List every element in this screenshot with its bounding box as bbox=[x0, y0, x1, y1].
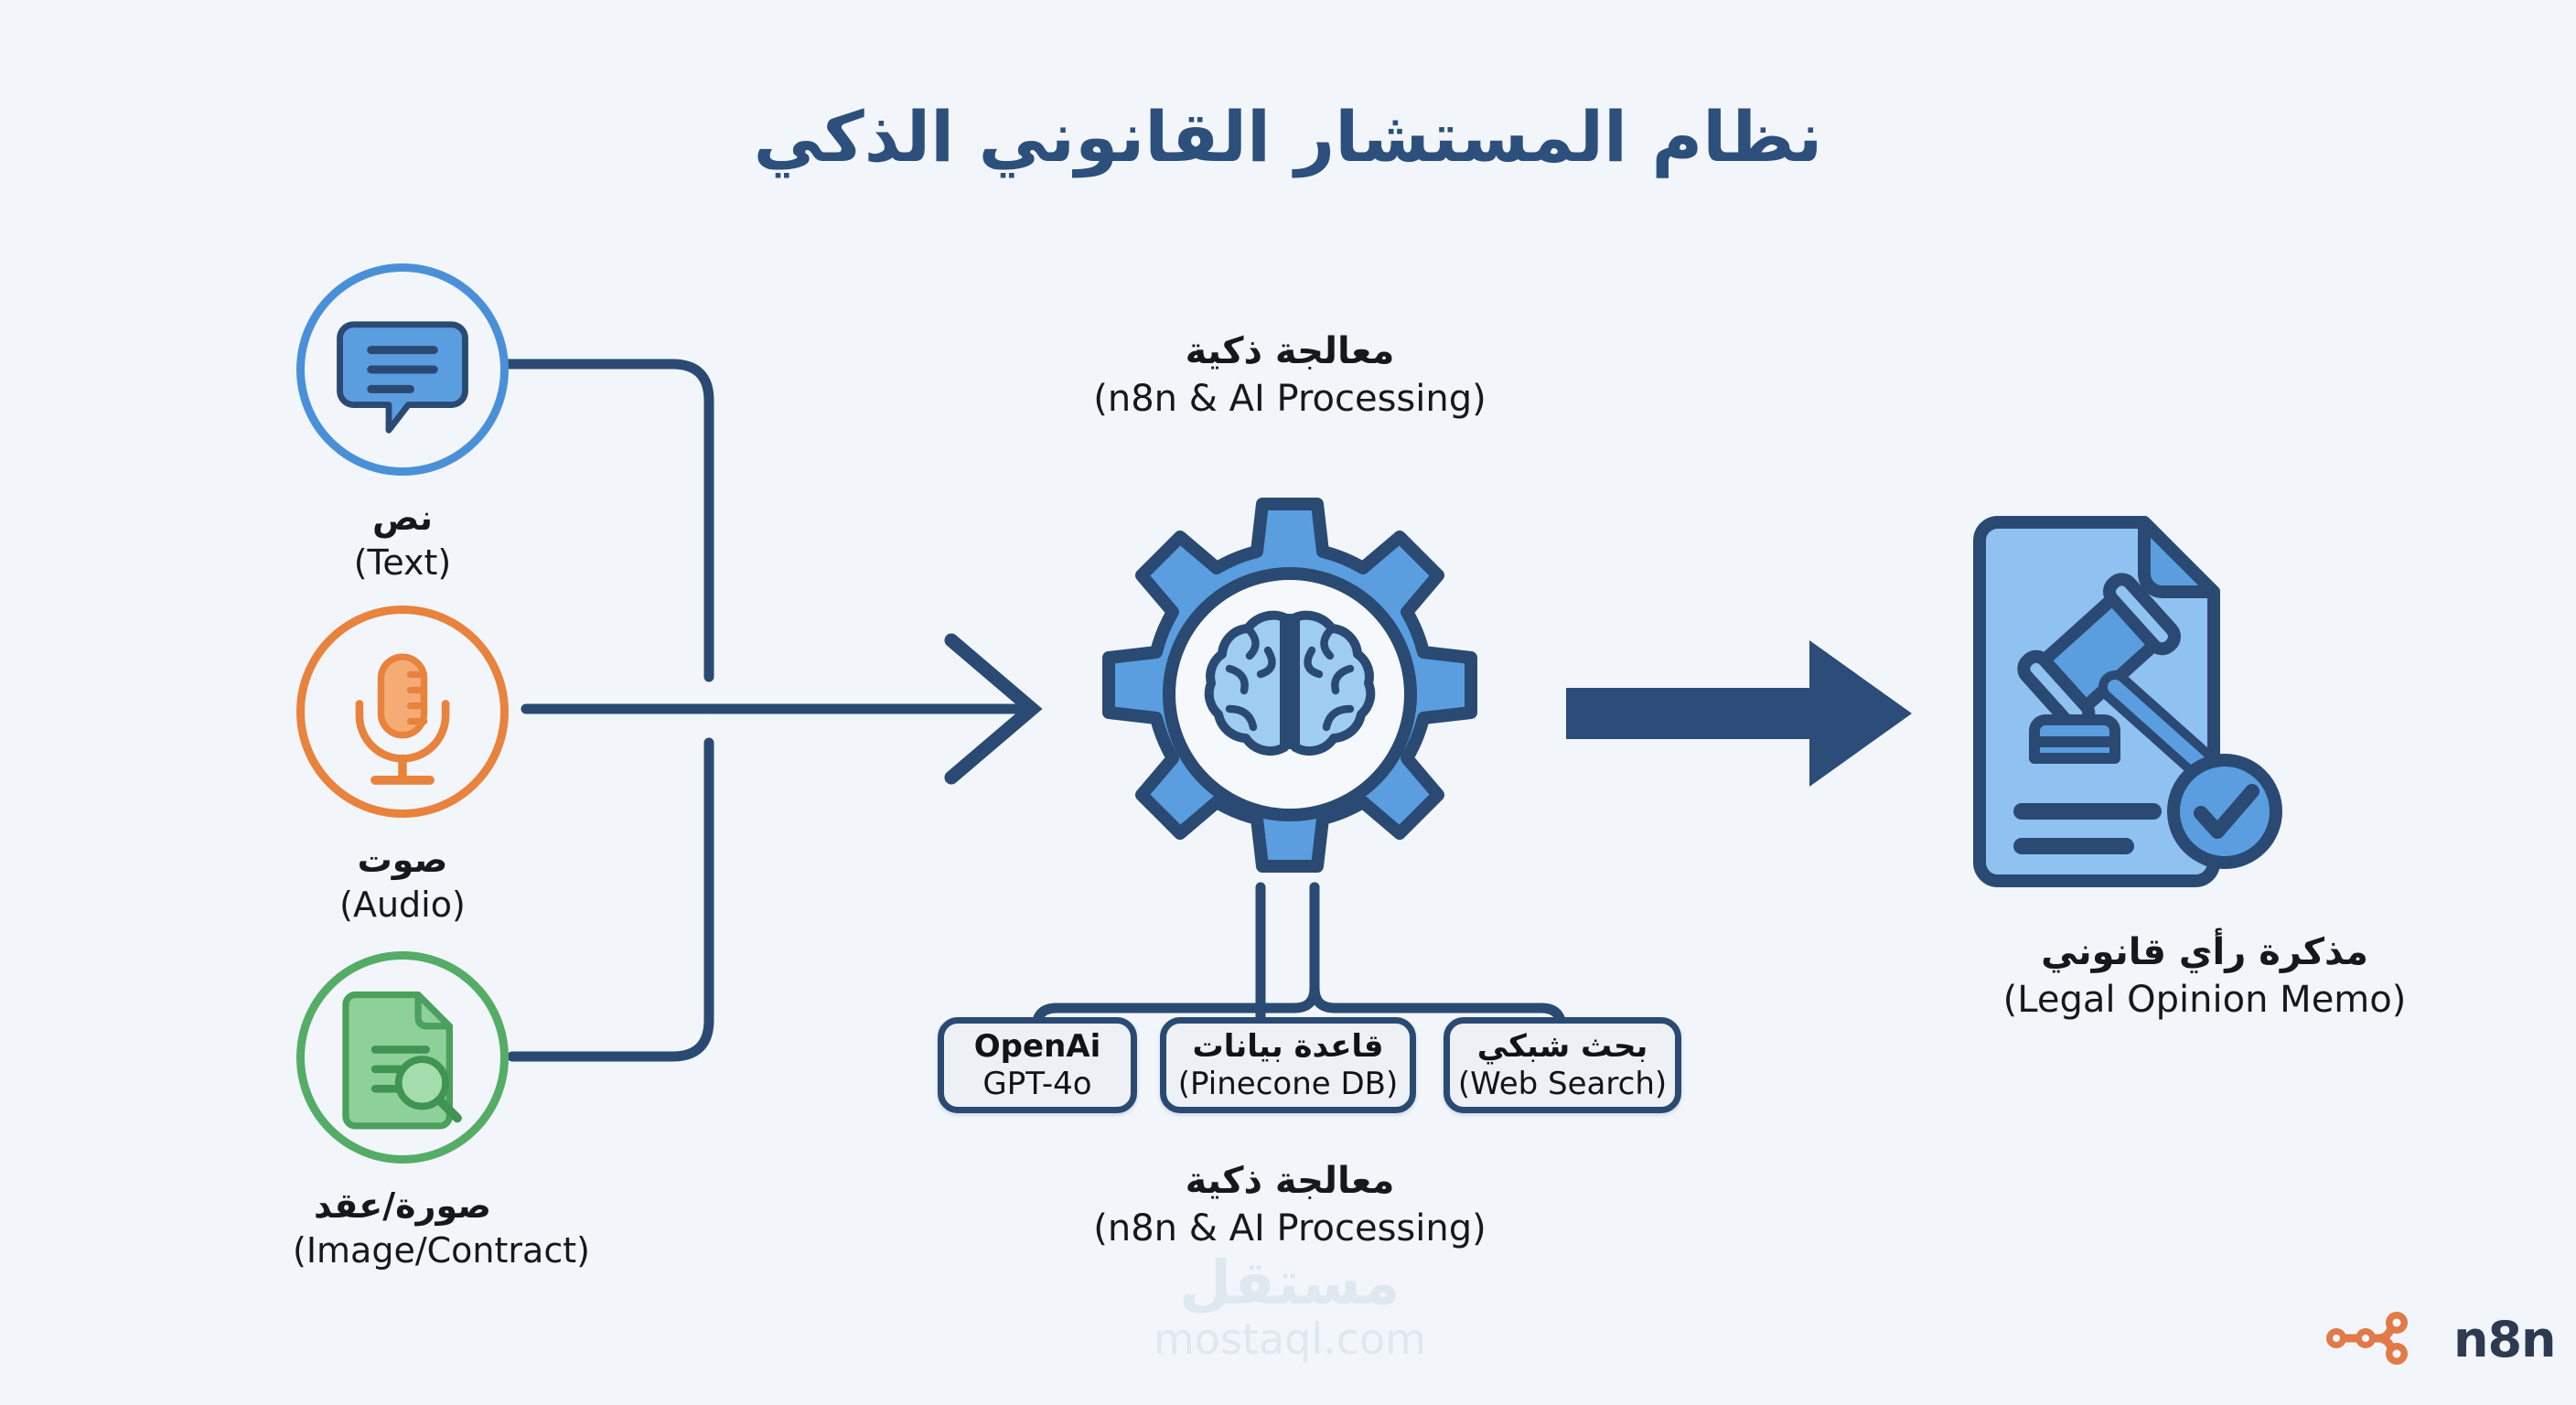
processing-heading: معالجة ذكية (n8n & AI Processing) bbox=[942, 327, 1637, 423]
audio-node-label-en: (Audio) bbox=[293, 883, 512, 928]
output-caption: مذكرة رأي قانوني (Legal Opinion Memo) bbox=[1857, 928, 2552, 1024]
tool-box-pinecone[interactable]: قاعدة بيانات (Pinecone DB) bbox=[1160, 1017, 1416, 1113]
output-node[interactable] bbox=[1958, 508, 2305, 892]
processing-heading-en: (n8n & AI Processing) bbox=[942, 375, 1637, 423]
text-node-circle bbox=[296, 263, 509, 476]
text-node-label-ar: نص bbox=[293, 496, 512, 541]
diagram-canvas: نظام المستشار القانوني الذكي bbox=[0, 0, 2576, 1405]
audio-node-label-ar: صوت bbox=[293, 838, 512, 883]
document-node-label-ar: صورة/عقد bbox=[293, 1184, 512, 1228]
output-caption-en: (Legal Opinion Memo) bbox=[1857, 976, 2552, 1024]
processing-heading-ar: معالجة ذكية bbox=[942, 327, 1637, 375]
document-node-label: صورة/عقد (Image/Contract) bbox=[293, 1184, 512, 1272]
mostaql-watermark: مستقل mostaql.com bbox=[1052, 1253, 1528, 1367]
tool-box-websearch[interactable]: بحث شبكي (Web Search) bbox=[1444, 1017, 1681, 1113]
text-node-label: نص (Text) bbox=[293, 496, 512, 585]
watermark-text-ar: مستقل bbox=[1052, 1253, 1528, 1314]
document-node-circle bbox=[296, 951, 509, 1164]
tool-box-pinecone-line2: (Pinecone DB) bbox=[1178, 1066, 1398, 1103]
n8n-branding: n8n bbox=[2324, 1303, 2552, 1377]
watermark-text-en: mostaql.com bbox=[1052, 1314, 1528, 1367]
output-caption-ar: مذكرة رأي قانوني bbox=[1857, 928, 2552, 976]
processing-gear-brain[interactable] bbox=[1052, 489, 1528, 910]
processing-caption-en: (n8n & AI Processing) bbox=[942, 1205, 1637, 1252]
page-title: نظام المستشار القانوني الذكي bbox=[0, 99, 2576, 176]
tool-box-openai[interactable]: OpenAi GPT-4o bbox=[938, 1017, 1137, 1113]
processing-caption: معالجة ذكية (n8n & AI Processing) bbox=[942, 1157, 1637, 1252]
n8n-logo-icon bbox=[2324, 1307, 2442, 1366]
tool-box-openai-line1: OpenAi bbox=[974, 1028, 1100, 1066]
document-node-label-en: (Image/Contract) bbox=[293, 1228, 512, 1273]
audio-node-circle bbox=[296, 606, 509, 818]
gear-brain-icon bbox=[1052, 489, 1528, 910]
n8n-wordmark: n8n bbox=[2453, 1311, 2555, 1368]
input-node-text[interactable]: نص (Text) bbox=[293, 263, 512, 585]
input-node-document[interactable]: صورة/عقد (Image/Contract) bbox=[293, 951, 512, 1272]
tool-box-websearch-line1: بحث شبكي bbox=[1477, 1028, 1648, 1066]
speech-bubble-icon bbox=[305, 272, 500, 467]
input-node-audio[interactable]: صوت (Audio) bbox=[293, 606, 512, 927]
audio-node-label: صوت (Audio) bbox=[293, 838, 512, 927]
tool-box-pinecone-line1: قاعدة بيانات bbox=[1193, 1028, 1384, 1066]
legal-document-approved-icon bbox=[1958, 508, 2305, 892]
microphone-icon bbox=[305, 614, 500, 810]
document-search-icon bbox=[305, 960, 500, 1155]
processing-caption-ar: معالجة ذكية bbox=[942, 1157, 1637, 1205]
tool-box-websearch-line2: (Web Search) bbox=[1458, 1066, 1667, 1103]
text-node-label-en: (Text) bbox=[293, 541, 512, 585]
tool-box-openai-line2: GPT-4o bbox=[982, 1066, 1091, 1103]
